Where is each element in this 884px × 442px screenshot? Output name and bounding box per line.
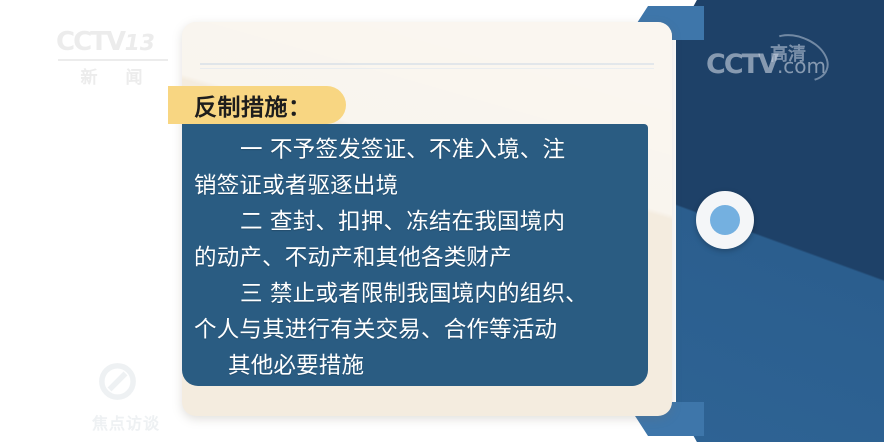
cctv13-sub-label: 新 闻 xyxy=(56,63,172,88)
measure-line-7: 其他必要措施 xyxy=(194,348,638,384)
card-divider-rules xyxy=(200,63,654,69)
cctv13-underline xyxy=(58,59,168,61)
slide-title-banner: 反制措施： xyxy=(168,86,346,124)
cctv13-brand: CCTV xyxy=(56,27,124,57)
measures-panel: 一 不予签发签证、不准入境、注 销签证或者驱逐出境 二 查封、扣押、冻结在我国境… xyxy=(182,124,648,386)
measure-line-1: 一 不予签发签证、不准入境、注 xyxy=(194,132,638,168)
program-name-label: 焦点访谈 xyxy=(68,410,184,434)
measure-line-6: 个人与其进行有关交易、合作等活动 xyxy=(194,312,638,348)
cctv13-number: 13 xyxy=(122,30,158,58)
cctv13-brand-row: CCTV13 xyxy=(56,28,172,58)
cctv13-channel-watermark: CCTV13 新 闻 xyxy=(56,28,172,86)
program-watermark: ⊘ 焦点访谈 xyxy=(68,352,184,438)
panel-circle-decoration xyxy=(696,191,754,249)
measure-line-2: 销签证或者驱逐出境 xyxy=(194,168,638,204)
program-logo-icon: ⊘ xyxy=(94,352,141,410)
panel-circle-inner xyxy=(710,205,740,235)
broadcast-screen: 高清 CCTV.com 一 不予签发签证、不准入境、注 销签证或者驱逐出境 二 … xyxy=(0,0,884,442)
measure-line-4: 的动产、不动产和其他各类财产 xyxy=(194,240,638,276)
cctv-com-watermark: 高清 CCTV.com xyxy=(706,42,874,88)
card-rule-thick xyxy=(200,63,654,65)
measures-text-block: 一 不予签发签证、不准入境、注 销签证或者驱逐出境 二 查封、扣押、冻结在我国境… xyxy=(194,132,638,384)
measure-line-5: 三 禁止或者限制我国境内的组织、 xyxy=(194,276,638,312)
measure-line-3: 二 查封、扣押、冻结在我国境内 xyxy=(194,204,638,240)
cctv-com-hd-label: 高清 xyxy=(770,32,806,78)
card-rule-thin xyxy=(200,68,654,69)
slide-title: 反制措施： xyxy=(194,88,312,122)
